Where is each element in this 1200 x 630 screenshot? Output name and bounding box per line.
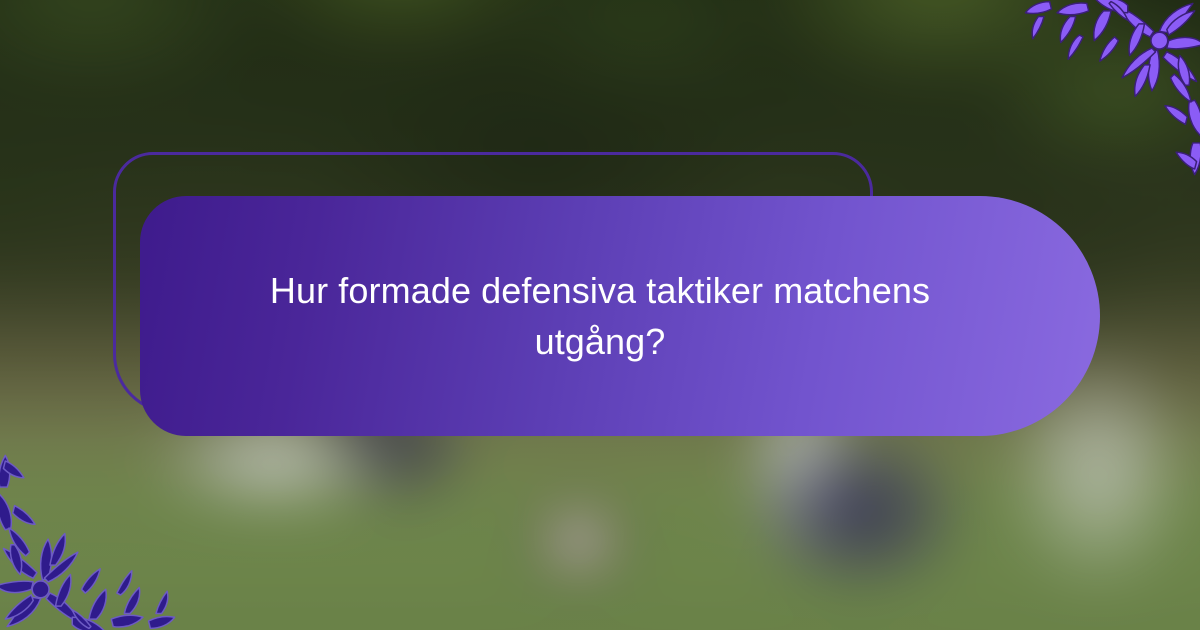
question-title: Hur formade defensiva taktiker matchens … — [250, 265, 950, 367]
question-card-banner: Hur formade defensiva taktiker matchens … — [0, 0, 1200, 630]
question-card: Hur formade defensiva taktiker matchens … — [140, 196, 1100, 436]
